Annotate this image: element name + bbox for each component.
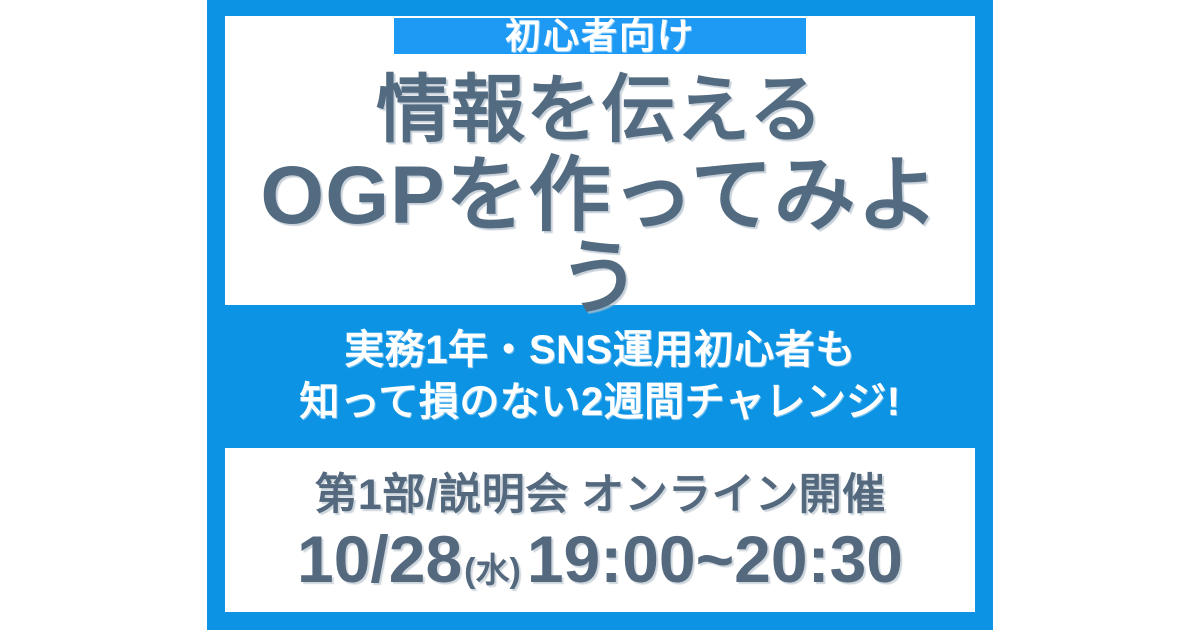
page-title: 情報を伝える OGPを作ってみよう: [225, 72, 975, 321]
schedule-panel: 第1部/説明会 オンライン開催 10/28 (水) 19:00~20:30: [225, 448, 975, 612]
title-line-1: 情報を伝える: [225, 72, 975, 147]
audience-badge: 初心者向け: [394, 18, 806, 54]
subtitle-line-1: 実務1年・SNS運用初心者も: [344, 325, 856, 376]
event-weekday: (水): [464, 554, 521, 588]
subtitle-line-2: 知って損のない2週間チャレンジ!: [299, 377, 900, 428]
title-line-2: OGPを作ってみよう: [225, 154, 975, 321]
event-part-label: 第1部/説明会 オンライン開催: [314, 472, 885, 519]
title-panel: 初心者向け 情報を伝える OGPを作ってみよう: [225, 16, 975, 305]
subtitle-band: 実務1年・SNS運用初心者も 知って損のない2週間チャレンジ!: [225, 305, 975, 448]
banner-card: 初心者向け 情報を伝える OGPを作ってみよう 実務1年・SNS運用初心者も 知…: [207, 0, 993, 630]
event-time-range: 19:00~20:30: [527, 526, 903, 592]
ogp-banner-canvas: 初心者向け 情報を伝える OGPを作ってみよう 実務1年・SNS運用初心者も 知…: [0, 0, 1200, 630]
event-datetime: 10/28 (水) 19:00~20:30: [297, 526, 903, 592]
event-date: 10/28: [297, 526, 462, 592]
